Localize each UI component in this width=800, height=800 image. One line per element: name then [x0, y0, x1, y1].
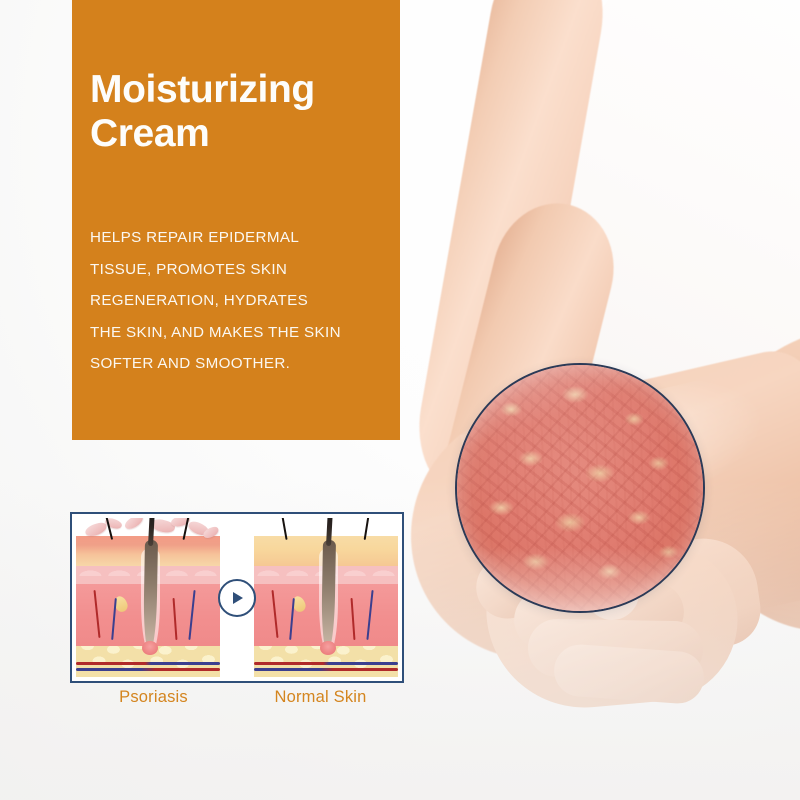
play-arrow-icon[interactable] — [218, 579, 256, 617]
deep-vessel-lower — [76, 668, 220, 671]
label-normal-skin: Normal Skin — [237, 688, 404, 707]
promo-panel: Moisturizing Cream HELPS REPAIR EPIDERMA… — [72, 0, 400, 440]
magnifier-inner-edge — [457, 365, 703, 611]
skin-comparison-panel — [70, 512, 404, 683]
promo-body-line: THE SKIN, AND MAKES THE SKIN — [90, 317, 400, 349]
deep-vessel-upper — [254, 662, 398, 665]
banner-canvas: Moisturizing Cream HELPS REPAIR EPIDERMA… — [0, 0, 800, 800]
promo-body-line: HELPS REPAIR EPIDERMAL — [90, 222, 400, 254]
normal-skin-diagram — [254, 518, 398, 677]
promo-body-line: TISSUE, PROMOTES SKIN — [90, 254, 400, 286]
promo-body-line: SOFTER AND SMOOTHER. — [90, 348, 400, 380]
deep-vessel-lower — [254, 668, 398, 671]
label-psoriasis: Psoriasis — [70, 688, 237, 707]
psoriasis-diagram — [76, 518, 220, 677]
promo-body-line: REGENERATION, HYDRATES — [90, 285, 400, 317]
deep-vessel-upper — [76, 662, 220, 665]
promo-body-text: HELPS REPAIR EPIDERMAL TISSUE, PROMOTES … — [90, 222, 400, 380]
promo-title: Moisturizing Cream — [90, 68, 390, 155]
magnifier-circle — [455, 363, 705, 613]
diagram-label-row: Psoriasis Normal Skin — [70, 688, 404, 707]
skin-flake — [122, 518, 144, 531]
